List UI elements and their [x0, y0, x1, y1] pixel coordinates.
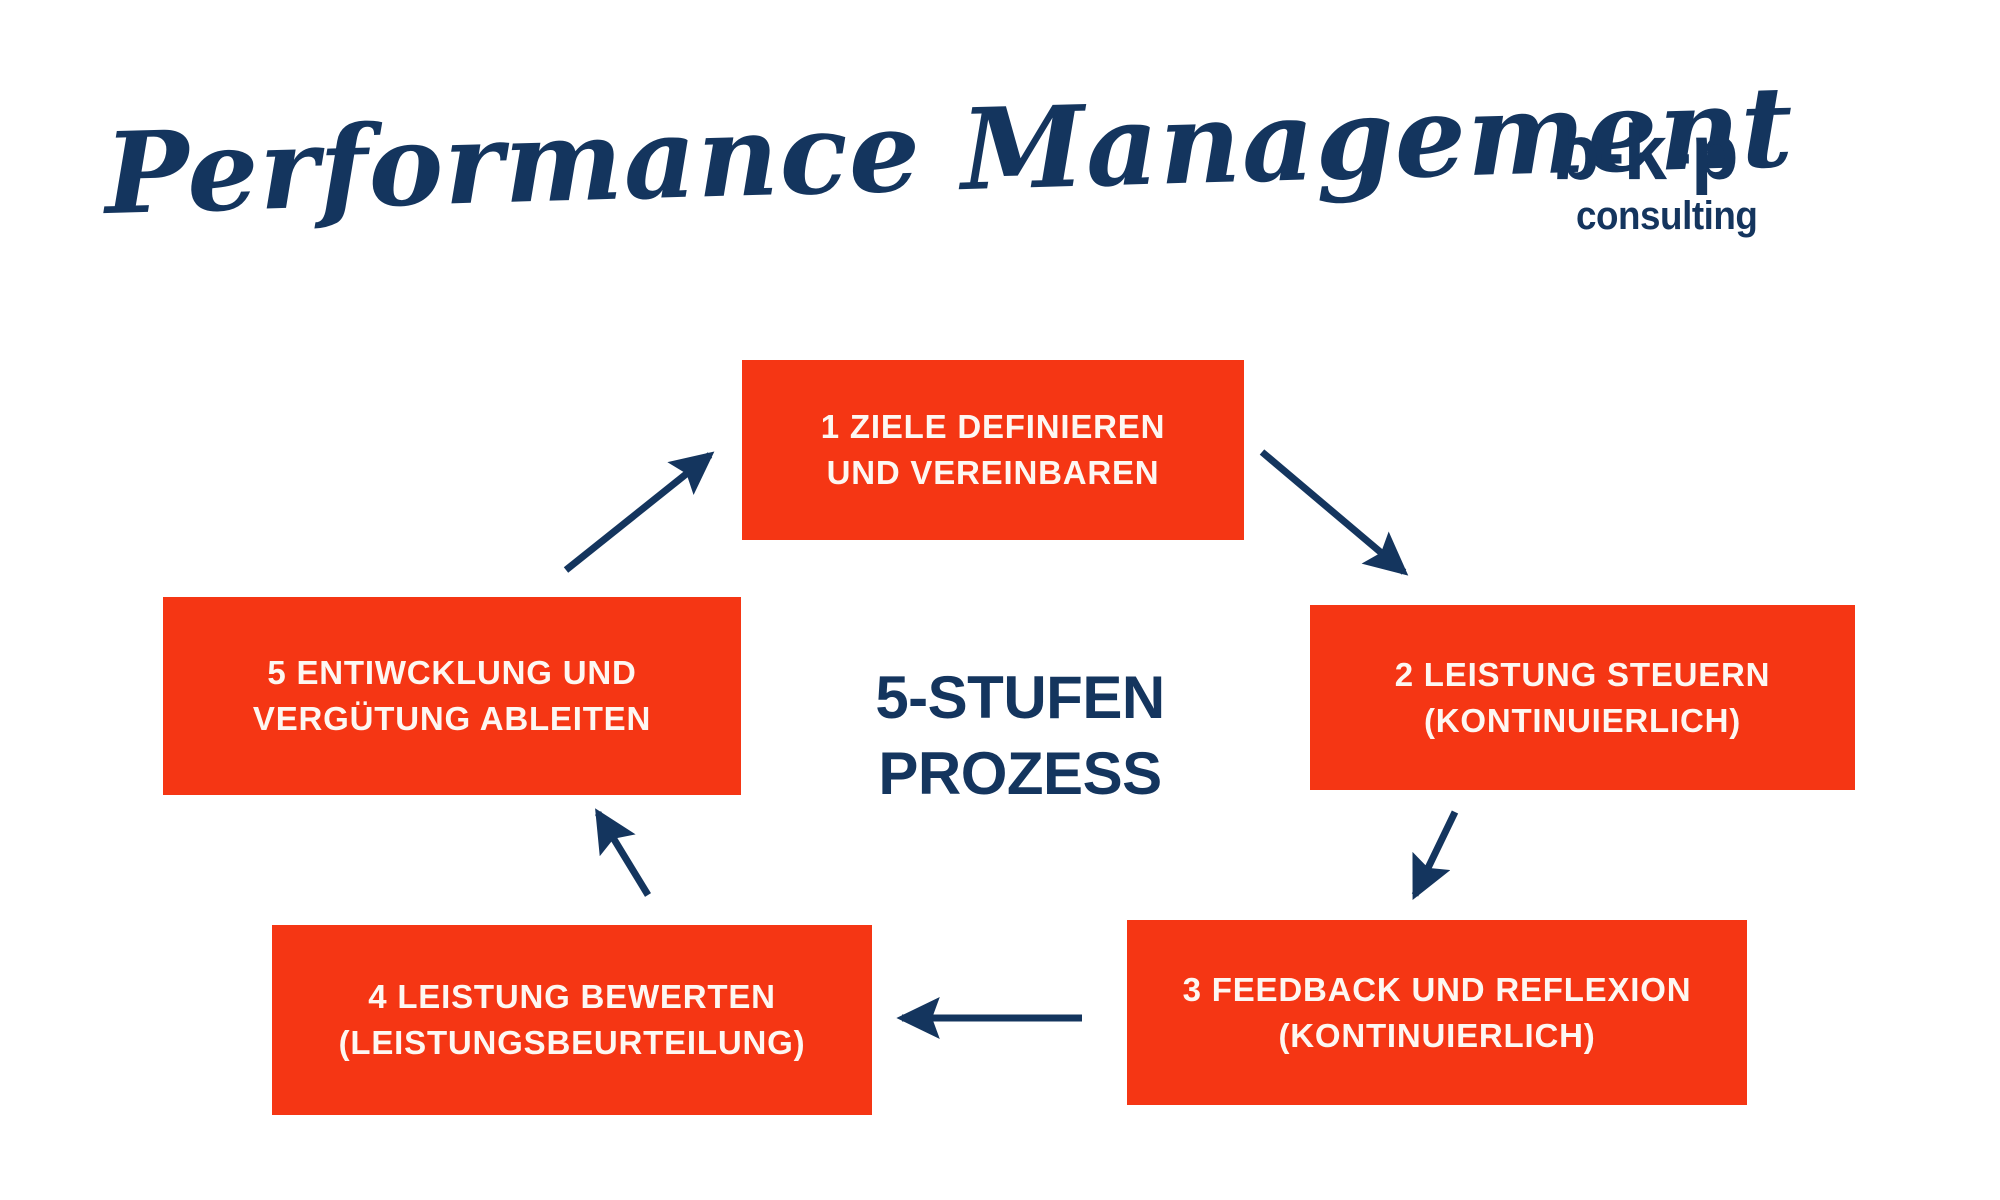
- process-step-1[interactable]: 1 ZIELE DEFINIEREN UND VEREINBAREN: [742, 360, 1244, 540]
- step-2-line-2: (KONTINUIERLICH): [1424, 698, 1741, 744]
- arrow-step5-to-step1: [566, 455, 710, 570]
- step-1-line-1: 1 ZIELE DEFINIEREN: [821, 404, 1165, 450]
- diagram-canvas: Performance Management b-k-p consulting …: [0, 0, 2000, 1200]
- logo-wordmark: b-k-p: [1552, 112, 1852, 192]
- process-step-2[interactable]: 2 LEISTUNG STEUERN (KONTINUIERLICH): [1310, 605, 1855, 790]
- logo-tagline: consulting: [1576, 194, 1830, 238]
- arrow-step4-to-step5: [598, 813, 648, 895]
- center-label: 5-STUFEN PROZESS: [840, 660, 1200, 812]
- process-step-5[interactable]: 5 ENTIWCKLUNG UND VERGÜTUNG ABLEITEN: [163, 597, 741, 795]
- bkp-logo: b-k-p consulting: [1552, 112, 1852, 272]
- arrow-step2-to-step3: [1415, 812, 1455, 895]
- process-step-4[interactable]: 4 LEISTUNG BEWERTEN (LEISTUNGSBEURTEILUN…: [272, 925, 872, 1115]
- step-4-line-1: 4 LEISTUNG BEWERTEN: [368, 974, 776, 1020]
- arrow-step1-to-step2: [1262, 452, 1404, 572]
- page-title: Performance Management: [103, 60, 1527, 260]
- step-5-line-1: 5 ENTIWCKLUNG UND: [267, 650, 636, 696]
- center-label-line-1: 5-STUFEN: [840, 660, 1200, 736]
- step-5-line-2: VERGÜTUNG ABLEITEN: [253, 696, 651, 742]
- step-1-line-2: UND VEREINBAREN: [827, 450, 1160, 496]
- step-2-line-1: 2 LEISTUNG STEUERN: [1395, 652, 1771, 698]
- center-label-line-2: PROZESS: [840, 736, 1200, 812]
- step-3-line-1: 3 FEEDBACK UND REFLEXION: [1183, 967, 1692, 1013]
- process-step-3[interactable]: 3 FEEDBACK UND REFLEXION (KONTINUIERLICH…: [1127, 920, 1747, 1105]
- step-4-line-2: (LEISTUNGSBEURTEILUNG): [339, 1020, 806, 1066]
- step-3-line-2: (KONTINUIERLICH): [1278, 1013, 1595, 1059]
